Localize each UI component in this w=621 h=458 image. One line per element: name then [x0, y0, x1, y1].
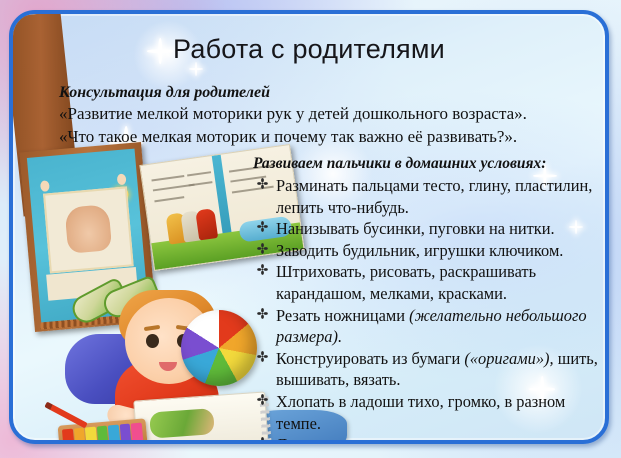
list-item-label: Конструировать из бумаги — [276, 349, 464, 368]
tips-list: Разминать пальцами тесто, глину, пластил… — [253, 175, 598, 444]
list-item-label: Резать ножницами — [276, 306, 409, 325]
list-item: Штриховать, рисовать, раскрашивать каран… — [253, 261, 598, 304]
floret-bullet-icon — [257, 351, 268, 362]
slide-canvas: Работа с родителями Консультация для род… — [0, 0, 621, 458]
list-item-label: Нанизывать бусинки, пуговки на нитки. — [276, 219, 555, 238]
illustration-sketch-pad — [133, 391, 268, 444]
floret-bullet-icon — [257, 243, 268, 254]
floret-bullet-icon — [257, 178, 268, 189]
floret-bullet-icon — [257, 264, 268, 275]
list-item: Резать ножницами (желательно небольшого … — [253, 305, 598, 348]
list-item-label: Заводить будильник, игрушки ключиком. — [276, 241, 563, 260]
floret-bullet-icon — [257, 394, 268, 405]
illustration-beach-ball — [181, 310, 257, 386]
list-item-label: Штриховать, рисовать, раскрашивать каран… — [276, 262, 536, 303]
consultation-block: Консультация для родителей «Развитие мел… — [59, 82, 559, 149]
page-title: Работа с родителями — [13, 34, 605, 65]
consultation-line-2: «Что такое мелкая моторик и почему так в… — [59, 126, 559, 149]
list-item-label: Делать пальчиковую гимнастику и т.д. — [276, 435, 544, 444]
list-item: Конструировать из бумаги («оригами»), ши… — [253, 348, 598, 391]
list-item-emphasis: («оригами»), — [464, 349, 553, 368]
list-item: Нанизывать бусинки, пуговки на нитки. — [253, 218, 598, 240]
list-item: Разминать пальцами тесто, глину, пластил… — [253, 175, 598, 218]
list-item: Делать пальчиковую гимнастику и т.д. — [253, 434, 598, 444]
tips-block: Развиваем пальчики в домашних условиях: … — [253, 155, 598, 444]
consultation-line-1: «Развитие мелкой моторики рук у детей до… — [59, 103, 559, 126]
list-item: Заводить будильник, игрушки ключиком. — [253, 240, 598, 262]
list-item-label: Хлопать в ладоши тихо, громко, в разном … — [276, 392, 565, 433]
list-item: Хлопать в ладоши тихо, громко, в разном … — [253, 391, 598, 434]
floret-bullet-icon — [257, 437, 268, 444]
list-item-label: Разминать пальцами тесто, глину, пластил… — [276, 176, 592, 217]
floret-bullet-icon — [257, 308, 268, 319]
consultation-heading: Консультация для родителей — [59, 82, 559, 103]
floret-bullet-icon — [257, 221, 268, 232]
tips-heading: Развиваем пальчики в домашних условиях: — [253, 155, 598, 173]
slide-frame: Работа с родителями Консультация для род… — [9, 10, 609, 444]
